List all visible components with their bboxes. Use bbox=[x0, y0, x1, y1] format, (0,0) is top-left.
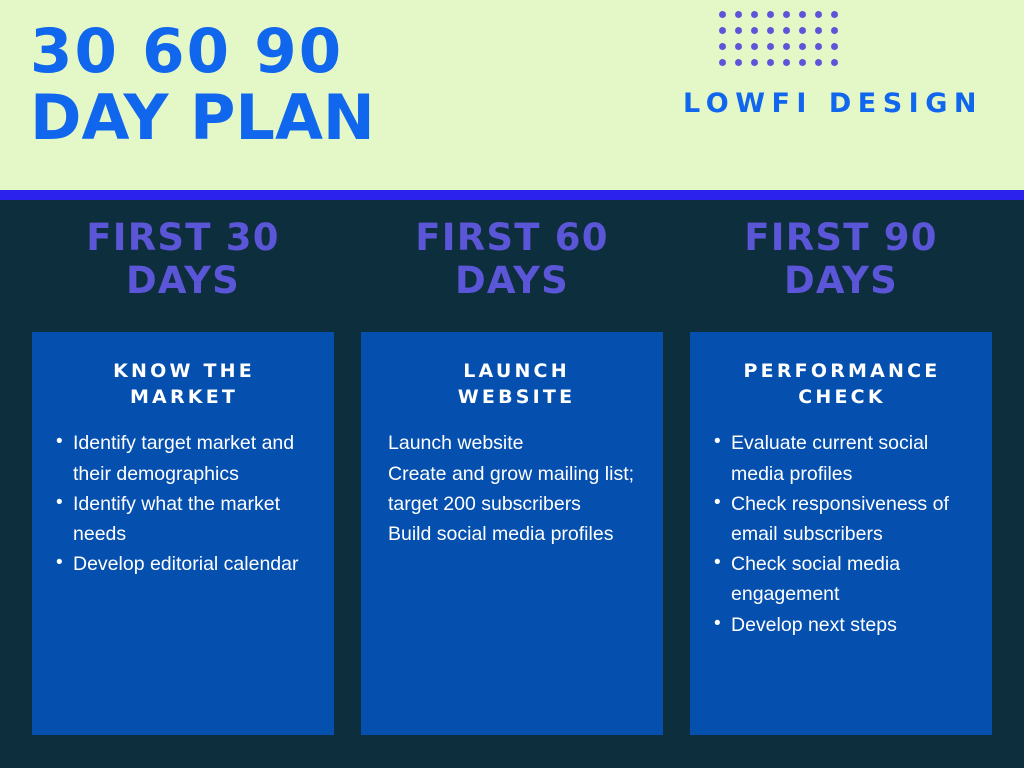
dot-icon bbox=[815, 59, 822, 66]
dot-icon bbox=[751, 43, 758, 50]
dot-icon bbox=[831, 43, 838, 50]
dot-icon bbox=[735, 11, 742, 18]
dot-icon bbox=[799, 59, 806, 66]
dot-icon bbox=[783, 11, 790, 18]
column-heading: FIRST 60 DAYS bbox=[361, 200, 663, 332]
list-item: Check responsiveness of email subscriber… bbox=[710, 489, 974, 549]
card-body: Identify target market and their demogra… bbox=[52, 428, 316, 579]
plan-card: LAUNCH WEBSITELaunch websiteCreate and g… bbox=[361, 332, 663, 735]
list-item: Evaluate current social media profiles bbox=[710, 428, 974, 488]
dot-icon bbox=[799, 43, 806, 50]
card-title: KNOW THE MARKET bbox=[52, 359, 316, 410]
dot-icon bbox=[751, 11, 758, 18]
plan-card: PERFORMANCE CHECKEvaluate current social… bbox=[690, 332, 992, 735]
list-item: Create and grow mailing list; target 200… bbox=[388, 459, 645, 519]
dot-icon bbox=[831, 27, 838, 34]
dot-icon bbox=[831, 11, 838, 18]
dot-grid-decoration bbox=[714, 6, 842, 70]
dot-icon bbox=[799, 11, 806, 18]
list-item: Check social media engagement bbox=[710, 549, 974, 609]
card-title: PERFORMANCE CHECK bbox=[710, 359, 974, 410]
dot-icon bbox=[719, 43, 726, 50]
dot-icon bbox=[767, 27, 774, 34]
title-line-2: DAY PLAN bbox=[30, 88, 590, 149]
dot-icon bbox=[815, 43, 822, 50]
plan-column-2: FIRST 60 DAYSLAUNCH WEBSITELaunch websit… bbox=[361, 200, 663, 735]
list-item: Launch website bbox=[388, 428, 645, 458]
list-item: Identify target market and their demogra… bbox=[52, 428, 316, 488]
task-list: Evaluate current social media profilesCh… bbox=[710, 428, 974, 640]
dot-icon bbox=[815, 11, 822, 18]
dot-icon bbox=[719, 11, 726, 18]
task-list: Identify target market and their demogra… bbox=[52, 428, 316, 579]
poster-canvas: 30 60 90 DAY PLAN LOWFI DESIGN FIRST 30 … bbox=[0, 0, 1024, 768]
plan-columns: FIRST 30 DAYSKNOW THE MARKETIdentify tar… bbox=[32, 200, 996, 735]
dot-icon bbox=[735, 43, 742, 50]
dot-icon bbox=[735, 27, 742, 34]
dot-icon bbox=[767, 43, 774, 50]
dot-icon bbox=[783, 59, 790, 66]
dot-icon bbox=[735, 59, 742, 66]
dot-icon bbox=[767, 59, 774, 66]
card-body: Evaluate current social media profilesCh… bbox=[710, 428, 974, 640]
brand-logo-text: LOWFI DESIGN bbox=[668, 88, 998, 119]
dot-icon bbox=[783, 43, 790, 50]
dot-icon bbox=[719, 27, 726, 34]
card-body: Launch websiteCreate and grow mailing li… bbox=[388, 428, 645, 549]
dot-icon bbox=[767, 11, 774, 18]
dot-icon bbox=[751, 59, 758, 66]
dot-icon bbox=[799, 27, 806, 34]
page-title: 30 60 90 DAY PLAN bbox=[30, 22, 590, 149]
dot-icon bbox=[815, 27, 822, 34]
dot-icon bbox=[751, 27, 758, 34]
plan-card: KNOW THE MARKETIdentify target market an… bbox=[32, 332, 334, 735]
title-line-1: 30 60 90 bbox=[30, 22, 590, 82]
card-title: LAUNCH WEBSITE bbox=[388, 359, 645, 410]
column-heading: FIRST 90 DAYS bbox=[690, 200, 992, 332]
list-item: Develop editorial calendar bbox=[52, 549, 316, 579]
dot-icon bbox=[783, 27, 790, 34]
header-divider bbox=[0, 190, 1024, 200]
dot-icon bbox=[831, 59, 838, 66]
dot-icon bbox=[719, 59, 726, 66]
column-heading: FIRST 30 DAYS bbox=[32, 200, 334, 332]
header-band: 30 60 90 DAY PLAN LOWFI DESIGN bbox=[0, 0, 1024, 190]
plan-column-3: FIRST 90 DAYSPERFORMANCE CHECKEvaluate c… bbox=[690, 200, 992, 735]
plan-column-1: FIRST 30 DAYSKNOW THE MARKETIdentify tar… bbox=[32, 200, 334, 735]
list-item: Identify what the market needs bbox=[52, 489, 316, 549]
list-item: Build social media profiles bbox=[388, 519, 645, 549]
list-item: Develop next steps bbox=[710, 610, 974, 640]
